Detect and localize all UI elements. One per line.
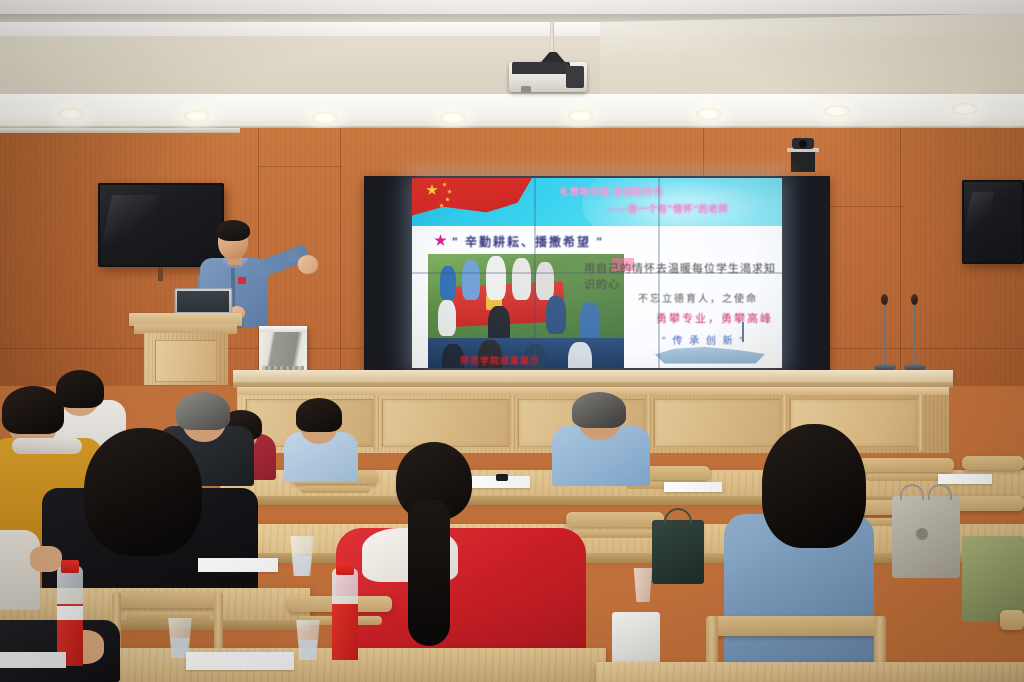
screen-glare <box>102 195 159 243</box>
slide-body-line-2: 不忘立德育人，之使命 <box>638 290 758 305</box>
stage-table-panel <box>382 399 510 447</box>
audience-person-hair <box>762 424 866 548</box>
desk-wood-grain <box>596 662 1024 682</box>
slide-banner-line-1: 礼赞新中国 奋进新时代 <box>560 185 664 198</box>
audience-chair[interactable] <box>1000 610 1024 630</box>
slide-photo-caption: 师范学院成果展示 <box>460 354 540 367</box>
ceiling-perspective-band <box>600 13 1024 98</box>
handbag-clasp <box>916 528 928 540</box>
handbag <box>652 520 704 584</box>
plastic-cup[interactable] <box>632 568 654 602</box>
audience-chair[interactable] <box>712 616 882 636</box>
speaker-name-badge <box>238 277 246 284</box>
wall-top-rail <box>0 128 240 133</box>
right-wall-display[interactable] <box>962 180 1024 264</box>
chair-slat <box>300 486 370 493</box>
speaker-hair <box>216 220 250 241</box>
audience-person-arm <box>0 530 40 610</box>
audience-person-hair <box>296 398 342 432</box>
photo-person <box>462 260 480 300</box>
wall-panel-seam <box>258 166 342 167</box>
audience-person-hair <box>84 428 202 556</box>
microphone-head <box>881 294 888 305</box>
paper-sheet <box>198 558 278 572</box>
bottle-label <box>332 604 358 660</box>
photo-person <box>438 300 456 336</box>
photo-person <box>512 258 531 300</box>
audience-person-ponytail <box>408 500 450 646</box>
slide-heading: " 辛勤耕耘、播撒希望 " <box>452 233 604 250</box>
bottle-cap <box>336 562 354 575</box>
video-wall-panel-seam <box>412 272 782 274</box>
ceiling-downlight <box>312 112 338 124</box>
ceiling-downlight <box>696 108 722 120</box>
handbag-handle <box>664 508 692 524</box>
paper-sheet <box>186 652 294 670</box>
slide-banner: 礼赞新中国 奋进新时代 ——做一个有"情怀"的老师 <box>412 178 782 226</box>
audience-chair[interactable] <box>566 512 664 527</box>
audience-person-hair <box>2 386 64 434</box>
slide-body-line-1: 用自己的情怀去温暖每位学生渴求知识的心 <box>584 260 782 292</box>
screen-glare <box>962 192 994 240</box>
slide-boat-mast <box>742 322 744 342</box>
left-display-stem <box>158 267 163 281</box>
stage-table-divider <box>510 395 515 451</box>
photo-person <box>486 256 506 300</box>
mobile-phone[interactable] <box>496 474 508 481</box>
audience-desk <box>596 662 1024 682</box>
left-wall-display[interactable] <box>98 183 224 267</box>
projector-top-plate <box>512 62 570 74</box>
photo-person <box>536 262 554 300</box>
slide-heading-star-icon <box>434 234 447 247</box>
photo-person <box>546 296 566 334</box>
chair-slat <box>126 612 210 621</box>
china-flag-graphic <box>412 178 532 218</box>
lectern-front-panel <box>155 340 217 382</box>
bottle-cap <box>61 560 79 573</box>
projector-knob <box>566 66 584 88</box>
stage-table-panel <box>654 399 782 447</box>
audience-person-hair <box>56 370 104 408</box>
microphone-stem <box>914 300 916 366</box>
stage-table-divider <box>918 395 923 451</box>
ceiling-downlight <box>184 110 210 122</box>
paper-sheet <box>664 482 722 492</box>
microphone-stem <box>884 300 886 366</box>
paper-sheet <box>0 652 66 668</box>
camera-wall-box <box>791 152 815 172</box>
audience-person-hair <box>176 392 230 430</box>
paper-sheet <box>938 474 992 484</box>
audience-chair[interactable] <box>116 592 220 608</box>
ceiling-downlight <box>440 112 466 124</box>
chair-slat <box>576 530 656 538</box>
ceiling-soffit <box>0 94 1024 128</box>
camera-lens-icon <box>799 140 807 148</box>
photo-person <box>580 302 600 342</box>
audience-chair[interactable] <box>858 458 954 472</box>
projector-lens <box>521 86 531 93</box>
presentation-slide: 礼赞新中国 奋进新时代 ——做一个有"情怀"的老师 " 辛勤耕耘、播撒希望 " <box>412 178 782 368</box>
video-wall-right-panel <box>782 176 830 370</box>
video-wall-display[interactable]: 礼赞新中国 奋进新时代 ——做一个有"情怀"的老师 " 辛勤耕耘、播撒希望 " <box>412 178 782 368</box>
photo-person <box>568 342 592 368</box>
ceiling-downlight <box>58 108 84 120</box>
audience-person-hair <box>572 392 626 428</box>
laptop-screen-surface <box>177 291 229 312</box>
computer-tower-top <box>259 326 307 332</box>
audience-chair[interactable] <box>962 456 1024 470</box>
audience-person-collar <box>12 438 82 454</box>
chair-slat <box>866 474 946 481</box>
ceiling-downlight <box>568 110 594 122</box>
ceiling-downlight <box>952 103 978 115</box>
slide-body: " 辛勤耕耘、播撒希望 " <box>412 226 782 368</box>
ceiling-downlight <box>824 105 850 117</box>
chair-post <box>214 592 223 652</box>
slide-body-line-4: " 传 承 创 新 " <box>662 332 745 347</box>
slide-banner-line-2: ——做一个有"情怀"的老师 <box>608 202 729 215</box>
slide-body-line-3: 勇攀专业，勇攀高峰 <box>656 310 773 326</box>
lecture-hall-photo: 礼赞新中国 奋进新时代 ——做一个有"情怀"的老师 " 辛勤耕耘、播撒希望 " <box>0 0 1024 682</box>
video-wall-left-panel <box>364 176 412 370</box>
microphone-head <box>911 294 918 305</box>
stage-table-divider <box>374 395 379 451</box>
